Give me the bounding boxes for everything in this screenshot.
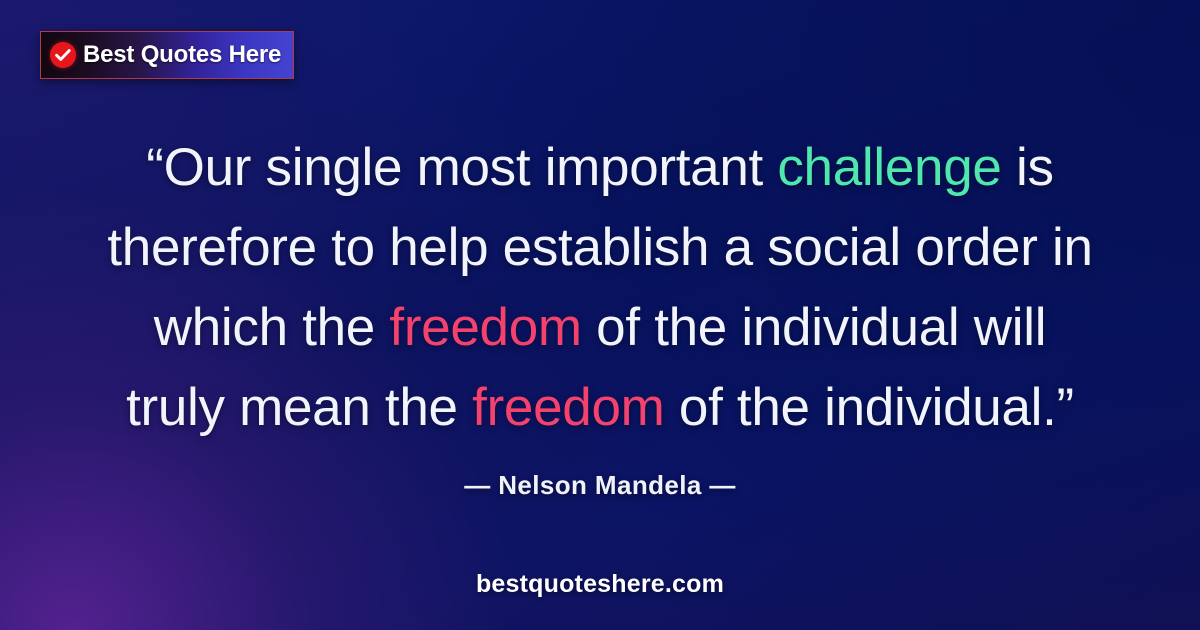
quote-segment: is (1002, 138, 1054, 197)
site-footer-url: bestquoteshere.com (0, 570, 1200, 599)
quote-attribution: — Nelson Mandela — (0, 470, 1200, 501)
quote-line: “Our single most important challenge is (0, 128, 1200, 208)
quote-line: therefore to help establish a social ord… (0, 208, 1200, 288)
quote-line: truly mean the freedom of the individual… (0, 368, 1200, 448)
quote-segment: therefore to help establish a social ord… (107, 218, 1092, 277)
quote-card-canvas: Best Quotes Here “Our single most import… (0, 0, 1200, 630)
quote-segment: “Our single most important (146, 138, 777, 197)
quote-highlight-freedom-2: freedom (472, 378, 664, 437)
check-circle-icon (50, 42, 76, 68)
brand-badge-label: Best Quotes Here (83, 41, 281, 69)
quote-line: which the freedom of the individual will (0, 288, 1200, 368)
quote-segment: which the (154, 298, 390, 357)
quote-segment: of the individual will (582, 298, 1046, 357)
quote-segment: truly mean the (126, 378, 472, 437)
brand-badge[interactable]: Best Quotes Here (40, 31, 294, 79)
quote-highlight-freedom-1: freedom (389, 298, 581, 357)
quote-text-block: “Our single most important challenge is … (0, 128, 1200, 448)
quote-highlight-challenge: challenge (777, 138, 1001, 197)
quote-segment: of the individual.” (664, 378, 1073, 437)
